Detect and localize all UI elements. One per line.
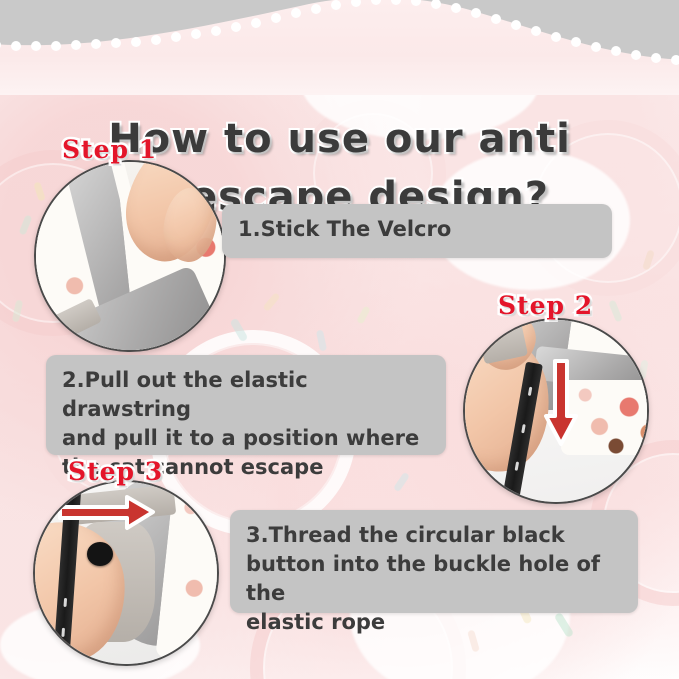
right-arrow-icon: [57, 492, 157, 534]
step-3-photo: [33, 480, 219, 666]
step-3-label: Step 3: [68, 457, 163, 486]
step-1-label: Step 1: [62, 135, 157, 164]
infographic-page: How to use our anti escape design? Step …: [0, 0, 679, 679]
step-2-caption: 2.Pull out the elastic drawstring and pu…: [46, 355, 446, 455]
circular-black-button: [87, 542, 113, 566]
title-line-1: How to use our anti: [108, 116, 571, 162]
step-2-label: Step 2: [498, 291, 593, 320]
step-1-caption: 1.Stick The Velcro: [222, 204, 612, 258]
down-arrow-icon: [543, 358, 579, 450]
step-2-photo: [463, 318, 649, 504]
step-3-caption: 3.Thread the circular black button into …: [230, 510, 638, 613]
step-1-photo: [34, 160, 226, 352]
